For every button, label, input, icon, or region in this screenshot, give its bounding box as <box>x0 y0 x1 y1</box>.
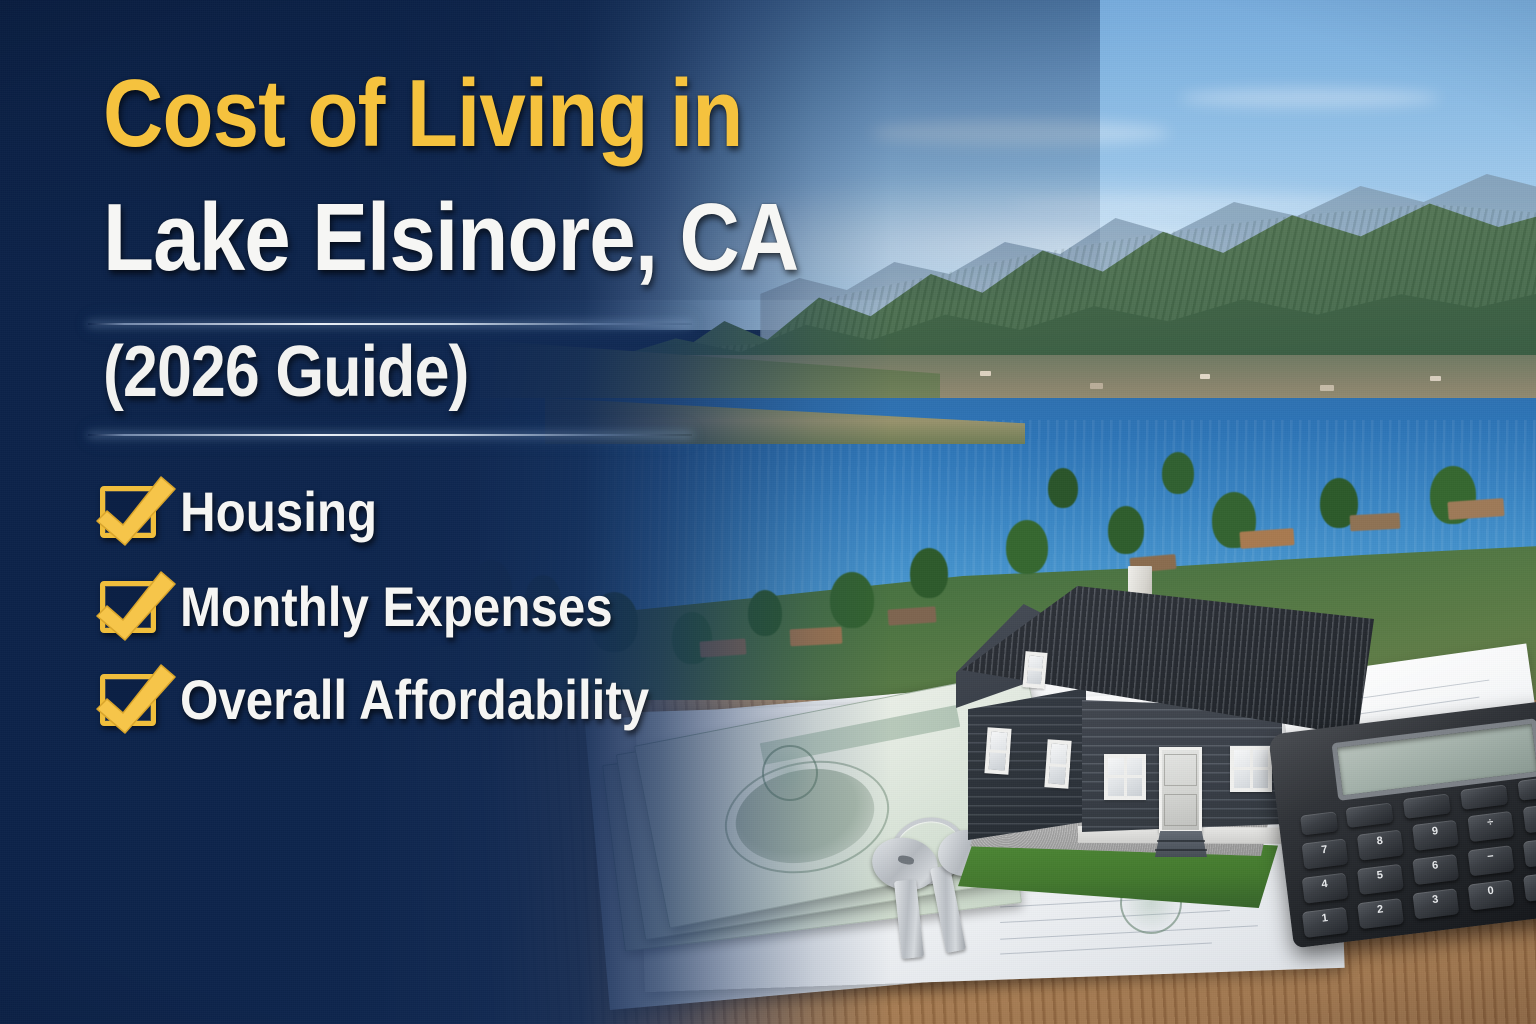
headline-line-2: Lake Elsinore, CA <box>103 190 798 286</box>
divider-top <box>88 323 692 325</box>
text-content: Cost of Living in Lake Elsinore, CA (202… <box>0 0 1536 1024</box>
checklist-item-monthly-expenses: Monthly Expenses <box>100 579 672 635</box>
headline-line-1: Cost of Living in <box>103 66 742 162</box>
checklist-item-housing: Housing <box>100 484 404 540</box>
divider-bottom <box>88 434 692 436</box>
checklist-label: Housing <box>180 484 377 540</box>
checkbox-checked-icon <box>100 674 156 726</box>
checklist-item-overall-affordability: Overall Affordability <box>100 672 713 728</box>
checklist-label: Overall Affordability <box>180 672 649 728</box>
headline-line-3: (2026 Guide) <box>103 336 469 408</box>
checklist-label: Monthly Expenses <box>180 579 613 635</box>
banner-canvas: 7 8 9 ÷ × 4 5 6 − + 1 2 3 0 . Cost of Li… <box>0 0 1536 1024</box>
checkbox-checked-icon <box>100 581 156 633</box>
checkbox-checked-icon <box>100 486 156 538</box>
